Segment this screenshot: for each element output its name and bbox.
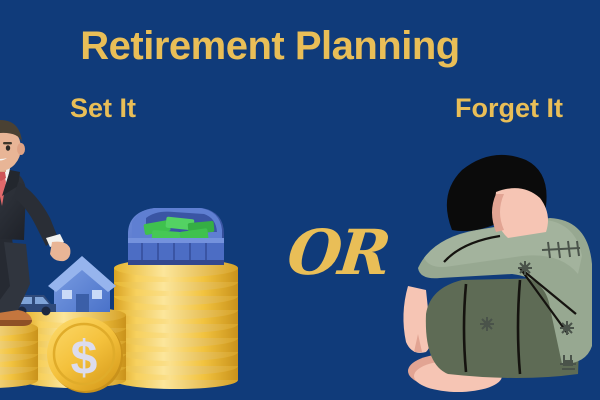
divider-or-label: OR (285, 222, 391, 284)
poster-canvas: Retirement Planning Set It Forget It OR (0, 0, 600, 400)
head (447, 155, 548, 238)
page-title: Retirement Planning (0, 24, 600, 68)
patch-shoulder (518, 261, 532, 275)
coin-stack-tall (114, 259, 238, 389)
treasure-chest-icon (128, 208, 224, 265)
coin-stack-small (0, 320, 38, 388)
illustration-failure-poverty (400, 138, 600, 386)
illustration-success-wealth: $ (0, 134, 236, 386)
subtitle-forget-it: Forget It (455, 92, 563, 124)
subtitle-set-it: Set It (70, 92, 136, 124)
patch-sleeve (560, 321, 574, 335)
patch-knee (480, 317, 494, 331)
svg-text:$: $ (71, 332, 98, 385)
house-icon (48, 256, 116, 312)
